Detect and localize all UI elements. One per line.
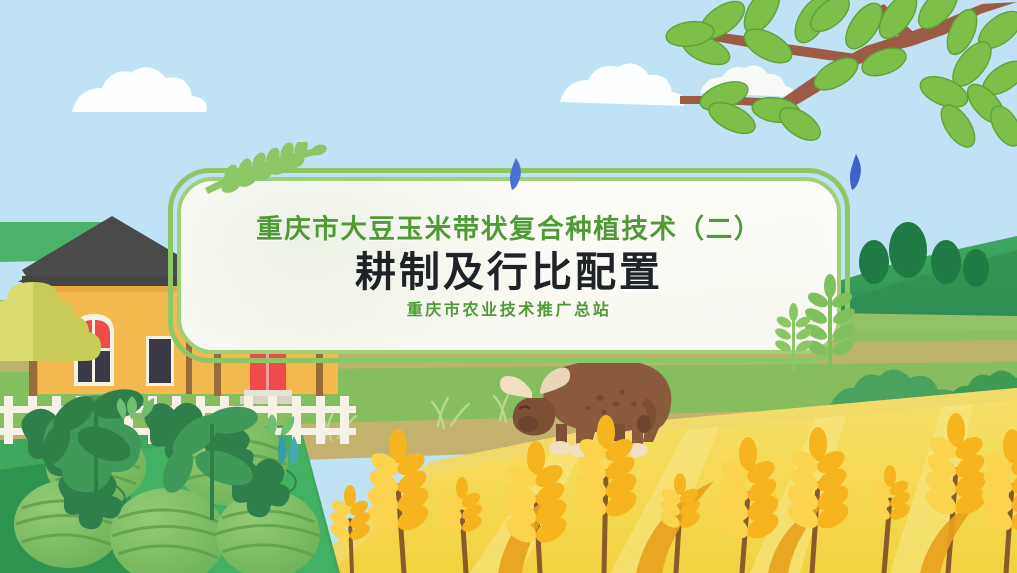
title-line-1: 重庆市大豆玉米带状复合种植技术（二） [256, 213, 762, 246]
title-byline: 重庆市农业技术推广总站 [407, 301, 612, 322]
card-text-block: 重庆市大豆玉米带状复合种植技术（二） 耕制及行比配置 重庆市农业技术推广总站 [168, 168, 850, 363]
wheat-stalk-group [327, 413, 1017, 573]
title-slide: 重庆市大豆玉米带状复合种植技术（二） 耕制及行比配置 重庆市农业技术推广总站 [0, 0, 1017, 573]
page-title: 耕制及行比配置 [355, 247, 663, 297]
title-card: 重庆市大豆玉米带状复合种植技术（二） 耕制及行比配置 重庆市农业技术推广总站 [168, 168, 850, 363]
